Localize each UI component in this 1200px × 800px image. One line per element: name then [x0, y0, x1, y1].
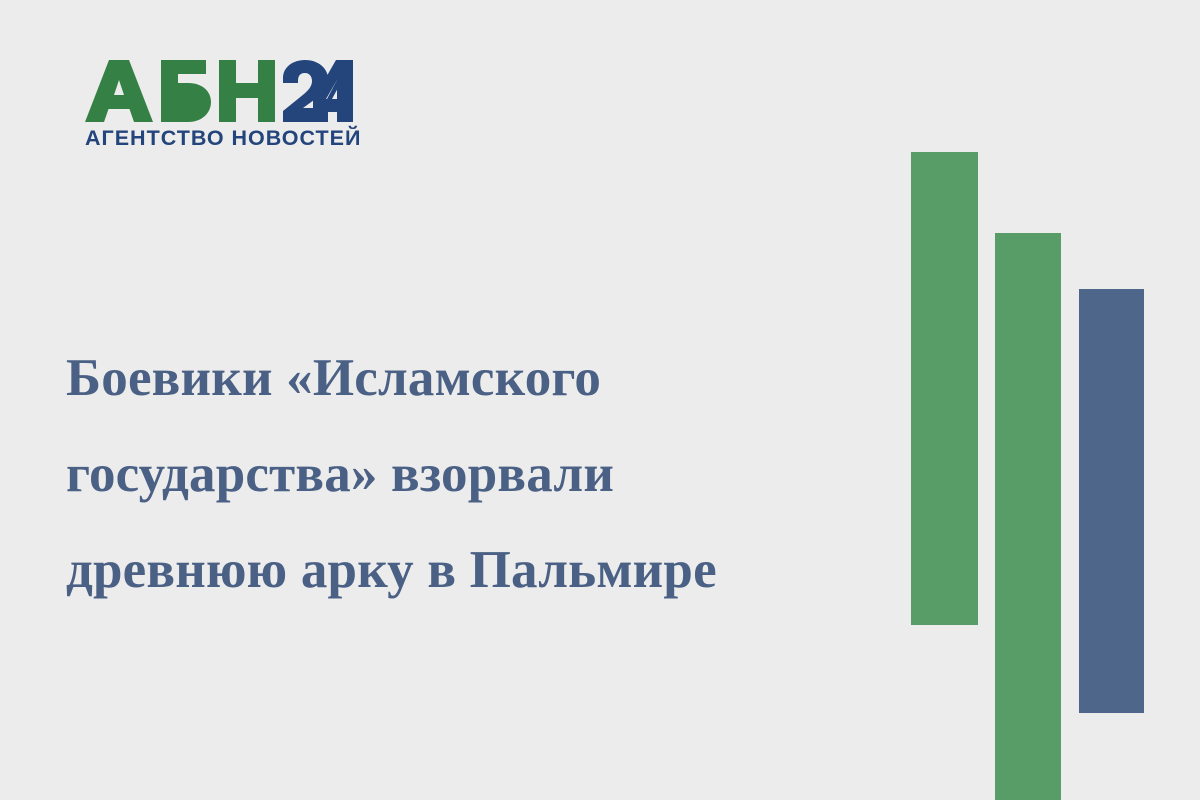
headline-line-2: государства» взорвали: [66, 426, 856, 522]
news-card: АГЕНТСТВО НОВОСТЕЙ Боевики «Исламского г…: [0, 0, 1200, 800]
headline: Боевики «Исламского государства» взорвал…: [66, 330, 856, 618]
decorative-bar-3: [1079, 289, 1144, 713]
decorative-bar-1: [911, 152, 978, 625]
headline-line-1: Боевики «Исламского: [66, 330, 856, 426]
abn24-logo: АГЕНТСТВО НОВОСТЕЙ: [85, 60, 375, 150]
logo-tagline: АГЕНТСТВО НОВОСТЕЙ: [85, 128, 375, 150]
headline-line-3: древнюю арку в Пальмире: [66, 522, 856, 618]
decorative-bar-2: [995, 233, 1061, 800]
abn24-logo-mark: [85, 60, 353, 122]
